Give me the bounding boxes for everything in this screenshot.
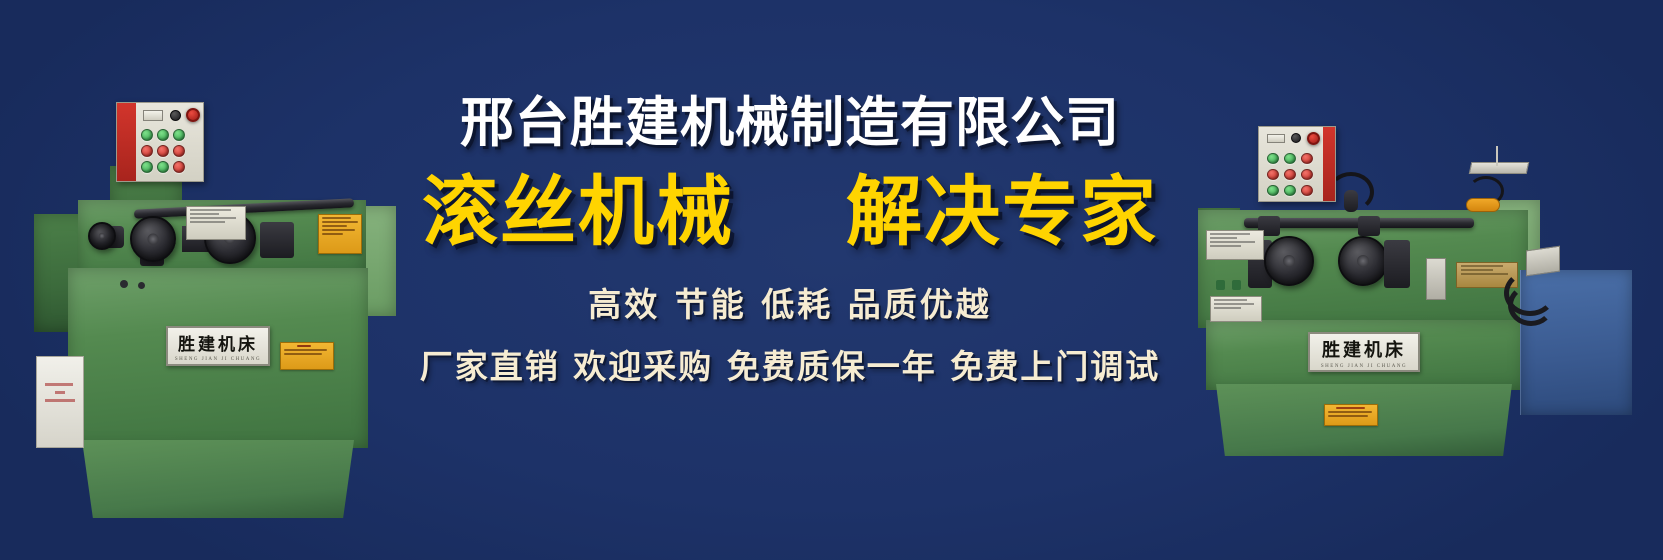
- machine-right-switch-a[interactable]: [1216, 280, 1225, 290]
- machine-left-bolt-a: [120, 280, 128, 288]
- machine-right-brand-name-cn: 胜建机床: [1322, 336, 1406, 362]
- machine-right-top-bracket-b: [1358, 216, 1380, 236]
- machine-left-emergency-stop-button[interactable]: [186, 108, 200, 122]
- machine-left-yellow-spec-label: [318, 214, 362, 254]
- machine-left-bearing-block: [260, 222, 294, 258]
- machine-left-button-4[interactable]: [141, 145, 153, 157]
- machine-left-button-9[interactable]: [173, 161, 185, 173]
- machine-right-button-5[interactable]: [1284, 169, 1296, 180]
- machine-right-upper-bed: [1198, 210, 1528, 328]
- machine-left-spec-plate: [186, 206, 246, 240]
- machine-left-brand-nameplate: 胜建机床 SHENG JIAN JI CHUANG: [166, 326, 270, 366]
- banner-text-block: 邢台胜建机械制造有限公司 滚丝机械 解决专家 高效 节能 低耗 品质优越 厂家直…: [390, 95, 1190, 388]
- machine-right-spec-plate: [1206, 230, 1264, 260]
- machine-right-button-1[interactable]: [1267, 153, 1279, 164]
- machine-left-button-7[interactable]: [141, 161, 153, 173]
- machine-right-selector-knob[interactable]: [1291, 133, 1301, 143]
- machine-right-panel-red-strip: [1323, 127, 1335, 201]
- machine-right-lubricator: [1426, 258, 1446, 300]
- machine-right-top-fixture: [1469, 162, 1530, 174]
- machine-right-valve-block: [1526, 246, 1560, 277]
- machine-left-main-body: 胜建机床 SHENG JIAN JI CHUANG: [68, 268, 368, 448]
- machine-left-pulley: [88, 222, 116, 250]
- machine-right-antenna-rod: [1496, 146, 1498, 166]
- machine-right-brand-name-en: SHENG JIAN JI CHUANG: [1321, 364, 1407, 369]
- headline-row: 滚丝机械 解决专家: [390, 172, 1190, 252]
- machine-left-base-skirt: [82, 440, 354, 518]
- machine-left-control-panel[interactable]: [116, 102, 204, 182]
- machine-right-roller-die-b: [1338, 236, 1388, 286]
- machine-right-spec-plate-lower: [1210, 296, 1262, 322]
- promotional-banner: 胜建机床 SHENG JIAN JI CHUANG: [0, 0, 1663, 560]
- machine-left-button-6[interactable]: [173, 145, 185, 157]
- machine-right-brand-nameplate: 胜建机床 SHENG JIAN JI CHUANG: [1308, 332, 1420, 372]
- headline-left: 滚丝机械: [422, 172, 734, 252]
- machine-right-panel-display: [1267, 134, 1285, 143]
- machine-left-button-3[interactable]: [173, 129, 185, 141]
- thread-rolling-machine-right: 胜建机床 SHENG JIAN JI CHUANG: [1168, 120, 1648, 460]
- machine-right-button-9[interactable]: [1301, 185, 1313, 196]
- machine-right-button-7[interactable]: [1267, 185, 1279, 196]
- machine-left-button-2[interactable]: [157, 129, 169, 141]
- machine-right-button-6[interactable]: [1301, 169, 1313, 180]
- machine-left-side-cabinet: [36, 356, 84, 448]
- machine-left-button-5[interactable]: [157, 145, 169, 157]
- machine-left-upper-bed: [78, 200, 366, 278]
- machine-left-button-1[interactable]: [141, 129, 153, 141]
- subtitle-line-1: 高效 节能 低耗 品质优越: [390, 278, 1190, 326]
- machine-left-brand-name-cn: 胜建机床: [178, 330, 258, 355]
- thread-rolling-machine-left: 胜建机床 SHENG JIAN JI CHUANG: [22, 88, 402, 478]
- machine-right-cable-gland: [1344, 190, 1358, 212]
- machine-right-button-8[interactable]: [1284, 185, 1296, 196]
- machine-right-emergency-stop-button[interactable]: [1307, 132, 1320, 145]
- machine-right-terminal-strip: [1466, 198, 1500, 212]
- machine-left-roller-die-a: [130, 216, 176, 262]
- machine-left-selector-knob[interactable]: [170, 110, 181, 121]
- machine-right-switch-b[interactable]: [1232, 280, 1241, 290]
- machine-left-panel-red-strip: [117, 103, 136, 181]
- machine-left-bolt-b: [138, 282, 145, 289]
- machine-right-safety-label: [1324, 404, 1378, 426]
- machine-right-button-2[interactable]: [1284, 153, 1296, 164]
- machine-right-button-grid[interactable]: [1267, 153, 1313, 196]
- machine-right-button-4[interactable]: [1267, 169, 1279, 180]
- machine-left-panel-display: [143, 110, 163, 121]
- headline-right: 解决专家: [846, 172, 1158, 252]
- machine-right-slide-b: [1384, 240, 1410, 288]
- machine-right-base-skirt: [1216, 384, 1512, 456]
- machine-left-note-warning-label: [280, 342, 334, 370]
- machine-left-brand-name-en: SHENG JIAN JI CHUANG: [175, 357, 261, 362]
- machine-right-roller-die-a: [1264, 236, 1314, 286]
- machine-right-button-3[interactable]: [1301, 153, 1313, 164]
- company-name: 邢台胜建机械制造有限公司: [390, 95, 1190, 150]
- machine-right-hydraulic-hose-b: [1508, 284, 1554, 326]
- subtitle-line-2: 厂家直销 欢迎采购 免费质保一年 免费上门调试: [390, 340, 1190, 388]
- machine-left-button-8[interactable]: [157, 161, 169, 173]
- machine-right-control-panel[interactable]: [1258, 126, 1336, 202]
- machine-right-base-body: 胜建机床 SHENG JIAN JI CHUANG: [1206, 320, 1524, 390]
- machine-left-button-grid[interactable]: [141, 129, 185, 173]
